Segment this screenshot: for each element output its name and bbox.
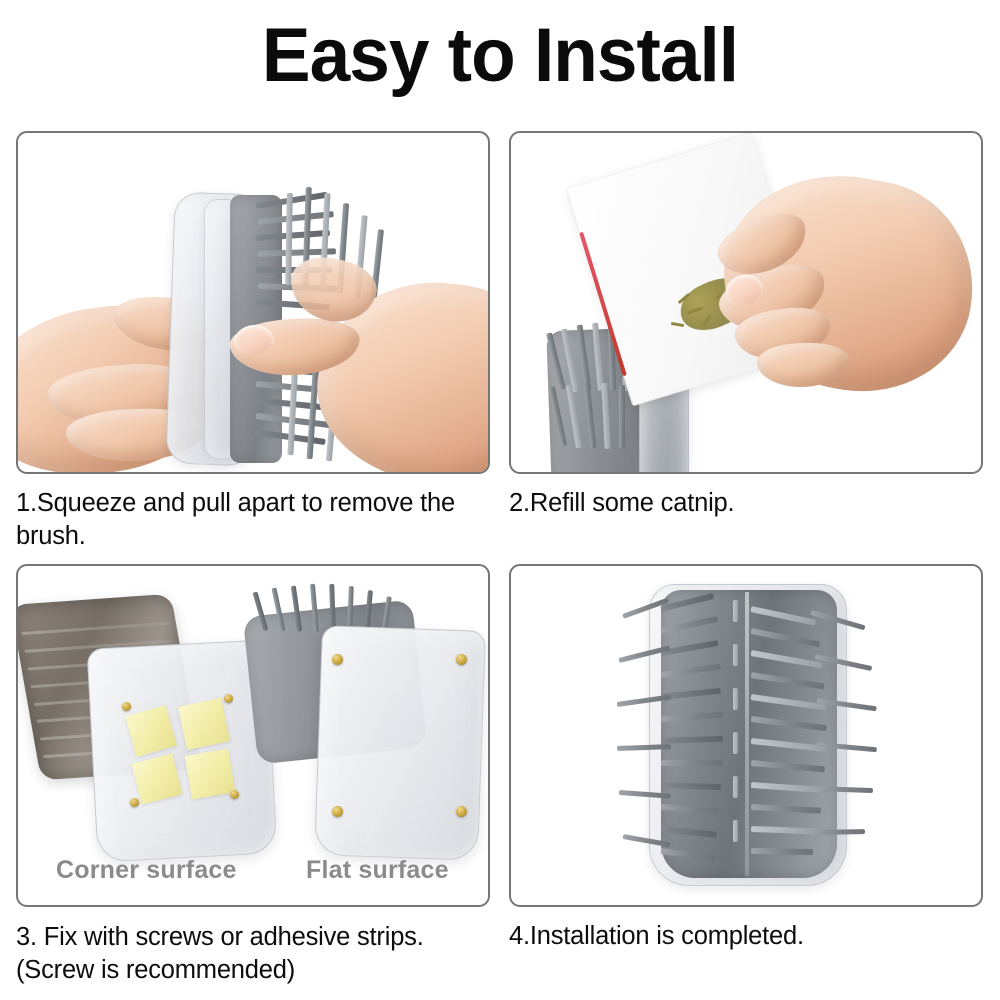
screw	[456, 654, 467, 665]
step-1: 1.Squeeze and pull apart to remove the b…	[16, 131, 490, 552]
bristle	[329, 584, 336, 632]
bristle	[733, 688, 738, 710]
bristle	[811, 829, 865, 835]
screw	[332, 806, 343, 817]
screw	[122, 702, 131, 711]
bristle	[733, 776, 738, 798]
bristle	[661, 760, 723, 766]
bristle	[733, 600, 738, 622]
step-2-caption: 2.Refill some catnip.	[509, 487, 983, 520]
corner-crease	[745, 592, 749, 876]
bristle	[733, 644, 738, 666]
bristle	[733, 732, 738, 754]
steps-grid: 1.Squeeze and pull apart to remove the b…	[0, 0, 1000, 1000]
step-1-photo	[16, 131, 490, 474]
step-4: 4.Installation is completed.	[509, 564, 983, 953]
screw	[230, 790, 239, 799]
step-3-photo: Corner surface Flat surface	[16, 564, 490, 907]
adhesive-pad	[185, 749, 236, 800]
bristle	[733, 820, 738, 842]
step-2: 2.Refill some catnip.	[509, 131, 983, 520]
bristle	[751, 848, 813, 855]
step-2-photo	[509, 131, 983, 474]
adhesive-pad	[178, 698, 230, 750]
label-flat-surface: Flat surface	[306, 856, 449, 885]
step-1-caption: 1.Squeeze and pull apart to remove the b…	[16, 487, 490, 552]
step-3-caption: 3. Fix with screws or adhesive strips. (…	[16, 921, 490, 986]
step-4-photo	[509, 564, 983, 907]
label-corner-surface: Corner surface	[56, 856, 237, 885]
scene-squeeze-brush	[18, 133, 488, 472]
screw	[224, 694, 233, 703]
step-4-caption: 4.Installation is completed.	[509, 920, 983, 953]
step-3: Corner surface Flat surface 3. Fix with …	[16, 564, 490, 986]
screw	[456, 806, 467, 817]
scene-mounting-options: Corner surface Flat surface	[18, 566, 488, 905]
scene-refill-catnip	[511, 133, 981, 472]
screw	[332, 654, 343, 665]
bristle	[619, 385, 625, 449]
screw	[130, 798, 139, 807]
scene-installed-groomer	[511, 566, 981, 905]
